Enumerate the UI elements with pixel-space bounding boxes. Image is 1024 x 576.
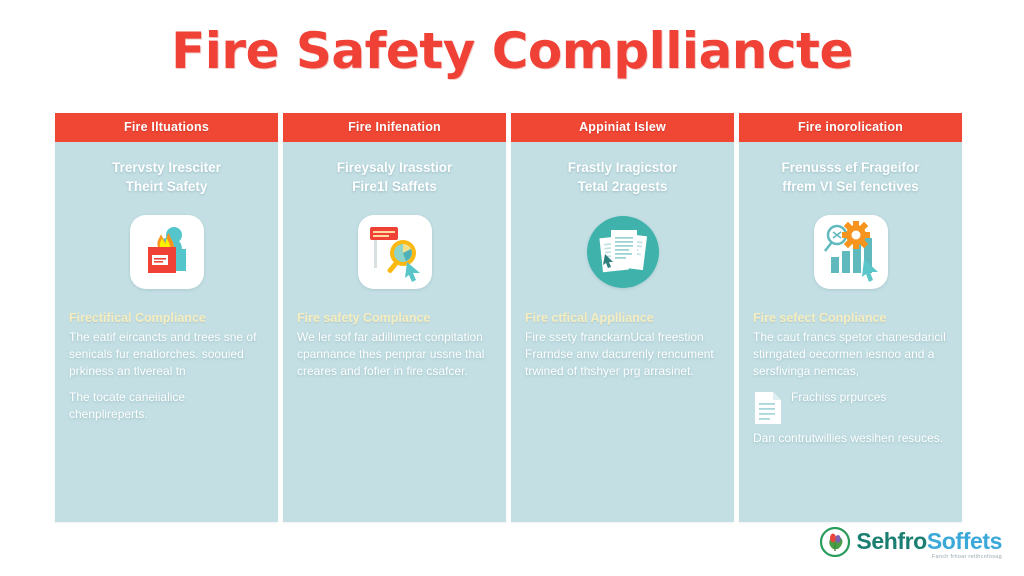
block-paragraph: The caut francs spetor chanesdaricil sti… [753, 329, 948, 380]
column-header: Fire inorolication [739, 113, 962, 142]
documents-circle-icon [587, 216, 659, 288]
subtitle-line-1: Fireysaly Irasstior [295, 158, 494, 177]
subtitle-line-1: Frenusss ef Frageifor [751, 158, 950, 177]
icon-wrap [511, 204, 734, 300]
column-subtitle: Frastly Iragicstor Tetal 2ragests [523, 158, 722, 196]
column-fire-monitoring: Fire inorolication Frenusss ef Frageifor… [739, 113, 962, 522]
column-fire-situations: Fire Iltuations Trervsty Iresciter Their… [55, 113, 278, 522]
column-body: Frenusss ef Frageifor ffrem VI Sel fenct… [739, 142, 962, 522]
footer-logo[interactable]: SehfroSoffets Fanch frtioar retihcnfosag [820, 527, 1002, 562]
subtitle-line-1: Trervsty Iresciter [67, 158, 266, 177]
icon-wrap [739, 204, 962, 300]
column-subtitle: Trervsty Iresciter Theirt Safety [67, 158, 266, 196]
column-header: Fire Inifenation [283, 113, 506, 142]
block-heading: Firectifical Compliance [69, 310, 264, 326]
document-callout-tail: Dan contrutwillies wesihen resuces. [753, 430, 948, 447]
columns-container: Fire Iltuations Trervsty Iresciter Their… [55, 113, 962, 522]
text-block: Fire ctfical Applliance Fire ssety franc… [511, 310, 734, 380]
sign-magnifier-cursor-icon [358, 215, 432, 289]
column-appliance-review: Appiniat Islew Frastly Iragicstor Tetal … [511, 113, 734, 522]
block-heading: Fire sefect Conpliance [753, 310, 948, 326]
subtitle-line-2: Theirt Safety [67, 177, 266, 196]
subtitle-line-2: Fire1l Saffets [295, 177, 494, 196]
logo-tagline: Fanch frtioar retihcnfosag [856, 554, 1002, 560]
column-body: Fireysaly Irasstior Fire1l Saffets [283, 142, 506, 522]
column-header: Fire Iltuations [55, 113, 278, 142]
block-heading: Fire ctfical Applliance [525, 310, 720, 326]
column-header: Appiniat Islew [511, 113, 734, 142]
icon-wrap [283, 204, 506, 300]
logo-text-group: SehfroSoffets Fanch frtioar retihcnfosag [856, 530, 1002, 560]
page-title: Fire Safety Complliancte [0, 22, 1024, 80]
subtitle-line-2: Tetal 2ragests [523, 177, 722, 196]
text-block: Fire sefect Conpliance The caut francs s… [739, 310, 962, 380]
block-paragraph: We ler sof far adillimect conpitation cp… [297, 329, 492, 380]
logo-text-primary: Sehfro [856, 528, 926, 554]
text-block: Fire safety Complance We ler sof far adi… [283, 310, 506, 380]
text-block: Firectifical Compliance The eatif eircan… [55, 310, 278, 423]
bar-chart-gear-cursor-icon [814, 215, 888, 289]
column-body: Trervsty Iresciter Theirt Safety [55, 142, 278, 522]
block-paragraph: The eatif eircancts and trees sne of sen… [69, 329, 264, 380]
column-subtitle: Fireysaly Irasstior Fire1l Saffets [295, 158, 494, 196]
column-subtitle: Frenusss ef Frageifor ffrem VI Sel fenct… [751, 158, 950, 196]
block-paragraph: Fire ssety franckarnUcal freestion Frarn… [525, 329, 720, 380]
fire-building-person-icon [130, 215, 204, 289]
subtitle-line-1: Frastly Iragicstor [523, 158, 722, 177]
document-lines-icon [753, 391, 783, 430]
document-callout-text: Frachiss prpurces [791, 389, 886, 406]
subtitle-line-2: ffrem VI Sel fenctives [751, 177, 950, 196]
icon-wrap [55, 204, 278, 300]
block-paragraph: The tocate caneiialice chenplireperts. [69, 389, 264, 423]
logo-text-secondary: Soffets [927, 528, 1002, 554]
document-callout: Frachiss prpurces [753, 389, 948, 430]
column-body: Frastly Iragicstor Tetal 2ragests [511, 142, 734, 522]
column-fire-information: Fire Inifenation Fireysaly Irasstior Fir… [283, 113, 506, 522]
flower-circle-logo-icon [820, 527, 850, 562]
block-heading: Fire safety Complance [297, 310, 492, 326]
